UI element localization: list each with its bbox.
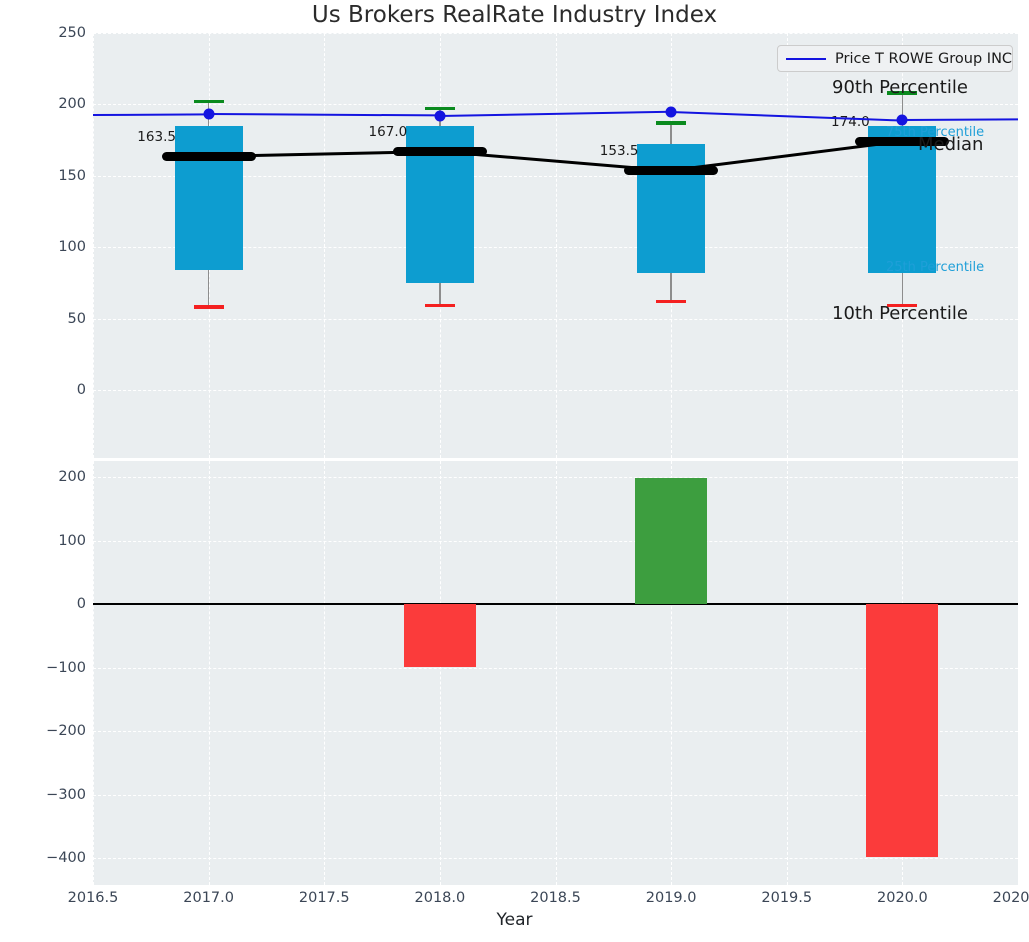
series-data-point[interactable] [203, 109, 214, 120]
y-tick-label-bottom: −300 [0, 787, 86, 803]
change-bar-positive [635, 478, 707, 604]
median-value-label: 167.0 [369, 124, 408, 140]
x-tick-label: 2018.5 [530, 890, 581, 906]
legend[interactable]: Price T ROWE Group INC [777, 45, 1013, 72]
annotation-10th-percentile: 10th Percentile [832, 303, 968, 324]
y-tick-label-top: 50 [0, 311, 86, 327]
box-body [637, 144, 705, 273]
x-tick-label: 2019.0 [646, 890, 697, 906]
gridline-vertical [787, 461, 788, 885]
y-tick-label-bottom: 200 [0, 469, 86, 485]
y-tick-label-top: 150 [0, 168, 86, 184]
whisker-cap-p10 [425, 304, 455, 307]
x-tick-label: 2020.0 [877, 890, 928, 906]
y-tick-label-top: 250 [0, 25, 86, 41]
x-tick-label: 2016.5 [68, 890, 119, 906]
gridline-vertical [1018, 33, 1019, 458]
median-value-label: 163.5 [137, 129, 176, 145]
gridline-vertical [787, 33, 788, 458]
annotation-median: Median [918, 134, 983, 155]
y-tick-label-bottom: 100 [0, 533, 86, 549]
y-tick-label-bottom: −100 [0, 660, 86, 676]
series-data-point[interactable] [666, 106, 677, 117]
gridline-vertical [556, 461, 557, 885]
gridline-vertical [440, 461, 441, 885]
gridline-vertical [324, 33, 325, 458]
whisker-cap-p90 [194, 100, 224, 103]
legend-line-swatch [786, 58, 826, 60]
change-bar-negative [404, 604, 476, 667]
y-tick-label-top: 100 [0, 239, 86, 255]
median-bar [624, 166, 718, 175]
y-tick-label-top: 200 [0, 96, 86, 112]
box-body [175, 126, 243, 270]
y-tick-label-bottom: −400 [0, 850, 86, 866]
x-tick-label: 2020.5 [993, 890, 1029, 906]
x-axis-label: Year [0, 910, 1029, 930]
annotation-25th-percentile: 25th Percentile [886, 260, 984, 275]
whisker-cap-p90 [656, 121, 686, 124]
change-bar-negative [866, 604, 938, 857]
median-bar [162, 152, 256, 161]
whisker-cap-p10 [194, 305, 224, 308]
x-tick-label: 2018.0 [415, 890, 466, 906]
gridline-vertical [93, 461, 94, 885]
x-tick-label: 2017.0 [183, 890, 234, 906]
y-tick-label-top: 0 [0, 382, 86, 398]
series-data-point[interactable] [897, 115, 908, 126]
whisker-cap-p10 [656, 300, 686, 303]
figure-canvas: Us Brokers RealRate Industry Index 25020… [0, 0, 1029, 942]
y-tick-label-bottom: 0 [0, 596, 86, 612]
series-data-point[interactable] [434, 110, 445, 121]
gridline-vertical [93, 33, 94, 458]
gridline-vertical [556, 33, 557, 458]
x-tick-label: 2019.5 [761, 890, 812, 906]
median-bar [393, 147, 487, 156]
y-tick-label-bottom: −200 [0, 723, 86, 739]
chart-title: Us Brokers RealRate Industry Index [0, 2, 1029, 28]
gridline-vertical [324, 461, 325, 885]
x-tick-label: 2017.5 [299, 890, 350, 906]
gridline-vertical [1018, 461, 1019, 885]
annotation-90th-percentile: 90th Percentile [832, 77, 968, 98]
gridline-vertical [209, 461, 210, 885]
median-value-label: 153.5 [600, 143, 639, 159]
legend-label-price-t-rowe-group-inc: Price T ROWE Group INC [835, 51, 1012, 67]
median-value-label: 174.0 [831, 114, 870, 130]
